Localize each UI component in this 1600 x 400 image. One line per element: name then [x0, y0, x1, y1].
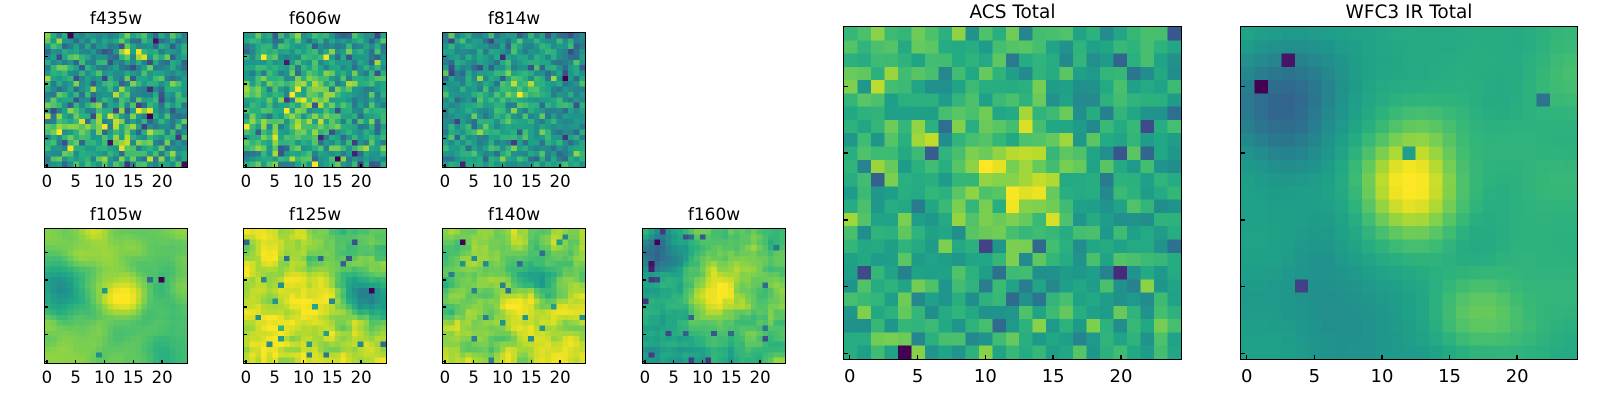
xtick-label: 5 — [70, 174, 81, 191]
heatmap-canvas-f606w — [244, 33, 386, 167]
ytick-mark — [44, 306, 48, 307]
ytick-mark — [243, 83, 247, 84]
ytick-mark — [1240, 219, 1245, 220]
panel-title-f814w: f814w — [442, 11, 586, 28]
ytick-mark — [843, 286, 848, 287]
ytick-mark — [1240, 286, 1245, 287]
ytick-mark — [442, 306, 446, 307]
xtick-mark — [46, 164, 47, 168]
xtick-mark — [702, 360, 703, 364]
heatmap-canvas-f814w — [443, 33, 585, 167]
xtick-label: 5 — [668, 370, 679, 387]
heatmap-canvas-f140w — [443, 229, 585, 363]
heatmap-f140w — [442, 228, 586, 364]
xtick-mark — [133, 360, 134, 364]
xtick-label: 0 — [42, 370, 53, 387]
xtick-mark — [444, 360, 445, 364]
panel-title-f105w: f105w — [44, 207, 188, 224]
xtick-mark — [502, 360, 503, 364]
xtick-mark — [759, 360, 760, 364]
xtick-mark — [849, 355, 850, 360]
xtick-mark — [303, 164, 304, 168]
xtick-mark — [1314, 355, 1315, 360]
xtick-label: 0 — [42, 174, 53, 191]
ytick-mark — [44, 56, 48, 57]
xtick-label: 0 — [241, 174, 252, 191]
ytick-mark — [243, 334, 247, 335]
ytick-mark — [843, 219, 848, 220]
xtick-label: 10 — [974, 368, 997, 386]
xtick-label: 15 — [721, 370, 742, 387]
xtick-label: 15 — [322, 370, 343, 387]
xtick-label: 5 — [1309, 368, 1320, 386]
xtick-mark — [531, 164, 532, 168]
ytick-mark — [1240, 86, 1245, 87]
ytick-mark — [642, 334, 646, 335]
xtick-label: 20 — [351, 370, 372, 387]
ytick-mark — [642, 279, 646, 280]
heatmap-f105w — [44, 228, 188, 364]
xtick-label: 15 — [123, 174, 144, 191]
ytick-mark — [243, 306, 247, 307]
xtick-mark — [917, 355, 918, 360]
panel-title-f606w: f606w — [243, 11, 387, 28]
xtick-label: 15 — [1438, 368, 1461, 386]
ytick-mark — [44, 138, 48, 139]
ytick-mark — [642, 306, 646, 307]
heatmap-f814w — [442, 32, 586, 168]
xtick-mark — [559, 360, 560, 364]
xtick-mark — [1381, 355, 1382, 360]
panel-title-f435w: f435w — [44, 11, 188, 28]
xtick-label: 10 — [94, 174, 115, 191]
xtick-mark — [303, 360, 304, 364]
xtick-mark — [104, 164, 105, 168]
xtick-label: 0 — [1241, 368, 1252, 386]
xtick-mark — [360, 360, 361, 364]
heatmap-canvas-f105w — [45, 229, 187, 363]
heatmap-f435w — [44, 32, 188, 168]
ytick-mark — [442, 138, 446, 139]
xtick-label: 10 — [293, 370, 314, 387]
heatmap-f160w — [642, 228, 786, 364]
xtick-mark — [473, 360, 474, 364]
xtick-mark — [1449, 355, 1450, 360]
xtick-mark — [46, 360, 47, 364]
xtick-mark — [332, 360, 333, 364]
heatmap-canvas-ir_total — [1241, 27, 1577, 359]
xtick-mark — [274, 164, 275, 168]
xtick-mark — [1120, 355, 1121, 360]
figure-canvas: f435w0510152005101520f606w05101520051015… — [0, 0, 1600, 400]
xtick-label: 20 — [152, 174, 173, 191]
xtick-mark — [559, 164, 560, 168]
xtick-label: 10 — [1371, 368, 1394, 386]
ytick-mark — [843, 353, 848, 354]
xtick-label: 10 — [692, 370, 713, 387]
xtick-label: 15 — [123, 370, 144, 387]
xtick-mark — [274, 360, 275, 364]
xtick-mark — [245, 360, 246, 364]
xtick-label: 20 — [550, 370, 571, 387]
xtick-mark — [531, 360, 532, 364]
xtick-label: 0 — [241, 370, 252, 387]
panel-title-acs_total: ACS Total — [843, 4, 1182, 23]
xtick-mark — [245, 164, 246, 168]
xtick-label: 10 — [492, 174, 513, 191]
ytick-mark — [1240, 353, 1245, 354]
heatmap-canvas-f125w — [244, 229, 386, 363]
ytick-mark — [243, 56, 247, 57]
ytick-mark — [442, 279, 446, 280]
xtick-label: 10 — [492, 370, 513, 387]
xtick-mark — [104, 360, 105, 364]
xtick-mark — [161, 164, 162, 168]
xtick-mark — [360, 164, 361, 168]
xtick-label: 20 — [152, 370, 173, 387]
xtick-label: 20 — [1506, 368, 1529, 386]
ytick-mark — [442, 56, 446, 57]
xtick-label: 0 — [844, 368, 855, 386]
heatmap-f125w — [243, 228, 387, 364]
xtick-mark — [1516, 355, 1517, 360]
xtick-label: 5 — [269, 174, 280, 191]
ytick-mark — [243, 110, 247, 111]
xtick-label: 0 — [640, 370, 651, 387]
xtick-mark — [644, 360, 645, 364]
xtick-label: 15 — [1042, 368, 1065, 386]
xtick-label: 20 — [750, 370, 771, 387]
xtick-mark — [332, 164, 333, 168]
ytick-mark — [243, 279, 247, 280]
ytick-mark — [243, 252, 247, 253]
xtick-mark — [161, 360, 162, 364]
xtick-mark — [1052, 355, 1053, 360]
ytick-mark — [44, 83, 48, 84]
xtick-label: 20 — [351, 174, 372, 191]
xtick-mark — [75, 360, 76, 364]
ytick-mark — [642, 252, 646, 253]
xtick-mark — [1246, 355, 1247, 360]
ytick-mark — [843, 86, 848, 87]
panel-title-f160w: f160w — [642, 207, 786, 224]
xtick-mark — [473, 164, 474, 168]
heatmap-canvas-f160w — [643, 229, 785, 363]
xtick-label: 5 — [269, 370, 280, 387]
xtick-label: 5 — [912, 368, 923, 386]
xtick-mark — [985, 355, 986, 360]
xtick-mark — [75, 164, 76, 168]
ytick-mark — [442, 252, 446, 253]
xtick-mark — [673, 360, 674, 364]
xtick-mark — [731, 360, 732, 364]
xtick-mark — [502, 164, 503, 168]
xtick-label: 15 — [521, 174, 542, 191]
xtick-label: 15 — [521, 370, 542, 387]
ytick-mark — [442, 110, 446, 111]
xtick-label: 10 — [293, 174, 314, 191]
ytick-mark — [44, 252, 48, 253]
xtick-label: 5 — [468, 370, 479, 387]
heatmap-ir_total — [1240, 26, 1578, 360]
heatmap-f606w — [243, 32, 387, 168]
ytick-mark — [843, 152, 848, 153]
ytick-mark — [442, 83, 446, 84]
ytick-mark — [44, 334, 48, 335]
xtick-mark — [444, 164, 445, 168]
xtick-label: 0 — [440, 174, 451, 191]
panel-title-f140w: f140w — [442, 207, 586, 224]
heatmap-acs_total — [843, 26, 1182, 360]
xtick-label: 15 — [322, 174, 343, 191]
xtick-label: 0 — [440, 370, 451, 387]
xtick-label: 20 — [550, 174, 571, 191]
ytick-mark — [243, 138, 247, 139]
ytick-mark — [442, 334, 446, 335]
xtick-label: 10 — [94, 370, 115, 387]
ytick-mark — [44, 110, 48, 111]
ytick-mark — [44, 279, 48, 280]
panel-title-ir_total: WFC3 IR Total — [1240, 4, 1578, 23]
heatmap-canvas-acs_total — [844, 27, 1181, 359]
xtick-label: 20 — [1110, 368, 1133, 386]
xtick-mark — [133, 164, 134, 168]
xtick-label: 5 — [468, 174, 479, 191]
heatmap-canvas-f435w — [45, 33, 187, 167]
ytick-mark — [1240, 152, 1245, 153]
panel-title-f125w: f125w — [243, 207, 387, 224]
xtick-label: 5 — [70, 370, 81, 387]
